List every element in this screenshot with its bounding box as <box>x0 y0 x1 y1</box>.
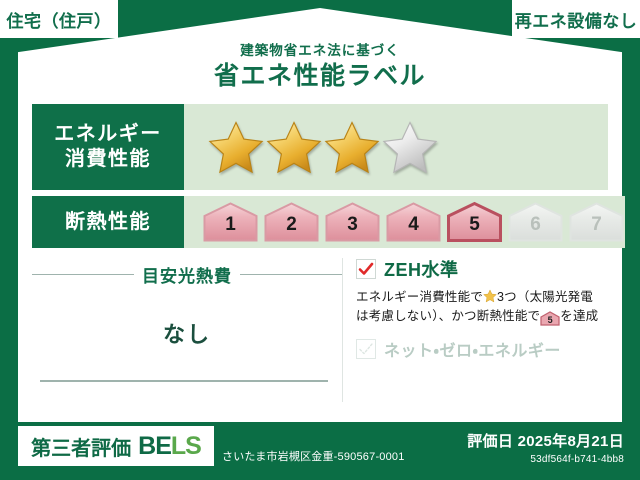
utility-cost-title: 目安光熱費 <box>142 262 232 287</box>
star-icon-filled <box>266 119 322 175</box>
energy-label-line2: 消費性能 <box>65 147 151 172</box>
star-icon-filled <box>208 119 264 175</box>
net-zero-label: ネット・ゼロ・エネルギー <box>384 337 561 361</box>
utility-cost-block: 目安光熱費 なし <box>32 256 342 408</box>
insulation-performance-label: 断熱性能 <box>32 196 184 248</box>
badge-renewable-energy: 再エネ設備なし <box>512 0 640 38</box>
zeh-title: ZEH水準 <box>384 256 459 282</box>
evaluation-date: 評価日 2025年8月21日 <box>467 430 624 451</box>
star-icon-filled <box>324 119 380 175</box>
insulation-label-text: 断熱性能 <box>65 210 151 235</box>
bels-logo: 第三者評価 BELS <box>18 426 214 466</box>
main-panel: エネルギー 消費性能 断熱性能 1234567 目安光熱費 なし <box>18 92 622 422</box>
insulation-level-value: 4 <box>408 215 419 243</box>
utility-cost-bottom-rule <box>40 380 328 382</box>
insulation-level-7: 7 <box>568 201 625 243</box>
rule-left <box>32 274 134 275</box>
insulation-level-value: 3 <box>347 215 358 243</box>
zeh-checkbox[interactable] <box>356 259 376 279</box>
footer-meta: 評価日 2025年8月21日 53df564f-b741-4bb8 <box>467 430 624 465</box>
property-address: さいたま市岩槻区金重-590567-0001 <box>222 448 405 464</box>
lower-section: 目安光熱費 なし ZEH水準 エネルギー消費性能で <box>32 256 608 408</box>
bels-mark-light: LS <box>171 432 201 460</box>
insulation-level-5: 5 <box>446 201 503 243</box>
zeh-desc-part2: は考慮しない）、かつ断熱性能で <box>356 309 540 323</box>
insulation-level-6: 6 <box>507 201 564 243</box>
header-titles: 建築物省エネ法に基づく 省エネ性能ラベル <box>18 44 622 92</box>
zeh-desc-part1: エネルギー消費性能で <box>356 290 483 304</box>
page-title: 省エネ性能ラベル <box>18 61 622 92</box>
star-icon-empty <box>382 119 438 175</box>
bels-jp-text: 第三者評価 <box>31 432 131 461</box>
energy-label-line1: エネルギー <box>54 122 162 147</box>
insulation-level-value: 5 <box>469 215 480 243</box>
badge-building-type: 住宅（住戸） <box>0 0 118 38</box>
energy-performance-label: エネルギー 消費性能 <box>32 104 184 190</box>
insulation-level-scale: 1234567 <box>184 196 625 248</box>
zeh-desc-part3: を達成 <box>560 309 598 323</box>
check-icon-unchecked <box>358 341 374 357</box>
insulation-level-1: 1 <box>202 201 259 243</box>
star-rating <box>184 104 608 190</box>
check-icon <box>358 261 374 277</box>
insulation-level-2: 2 <box>263 201 320 243</box>
zeh-title-row: ZEH水準 <box>356 256 608 282</box>
insulation-performance-row: 断熱性能 1234567 <box>32 196 608 248</box>
zeh-description: エネルギー消費性能で 3つ（太陽光発電 は考慮しない）、かつ断熱性能で 5 を達… <box>356 288 608 327</box>
inline-star-icon <box>483 289 497 303</box>
insulation-level-value: 7 <box>591 215 602 243</box>
bels-wordmark: BELS <box>138 432 201 461</box>
footer: 第三者評価 BELS さいたま市岩槻区金重-590567-0001 評価日 20… <box>0 422 640 480</box>
bels-mark-dark: BE <box>138 432 171 460</box>
insulation-level-value: 6 <box>530 215 541 243</box>
inline-level-badge: 5 <box>540 311 560 326</box>
rule-right <box>240 274 342 275</box>
insulation-level-3: 3 <box>324 201 381 243</box>
utility-cost-value: なし <box>32 317 342 349</box>
insulation-level-value: 1 <box>225 215 236 243</box>
zeh-desc-stars: 3つ（太陽光発電 <box>497 290 593 304</box>
net-zero-energy-row: ネット・ゼロ・エネルギー <box>356 337 608 361</box>
utility-cost-header: 目安光熱費 <box>32 262 342 287</box>
energy-label-root: 住宅（住戸） 再エネ設備なし 建築物省エネ法に基づく 省エネ性能ラベル エネルギ… <box>0 0 640 480</box>
insulation-level-value: 2 <box>286 215 297 243</box>
net-zero-checkbox[interactable] <box>356 339 376 359</box>
insulation-level-4: 4 <box>385 201 442 243</box>
inline-level-value: 5 <box>540 311 560 330</box>
header-subtitle: 建築物省エネ法に基づく <box>18 44 622 59</box>
zeh-block: ZEH水準 エネルギー消費性能で 3つ（太陽光発電 は考慮しない）、かつ断熱性能… <box>342 256 608 408</box>
energy-performance-row: エネルギー 消費性能 <box>32 104 608 190</box>
evaluation-id: 53df564f-b741-4bb8 <box>467 454 624 465</box>
